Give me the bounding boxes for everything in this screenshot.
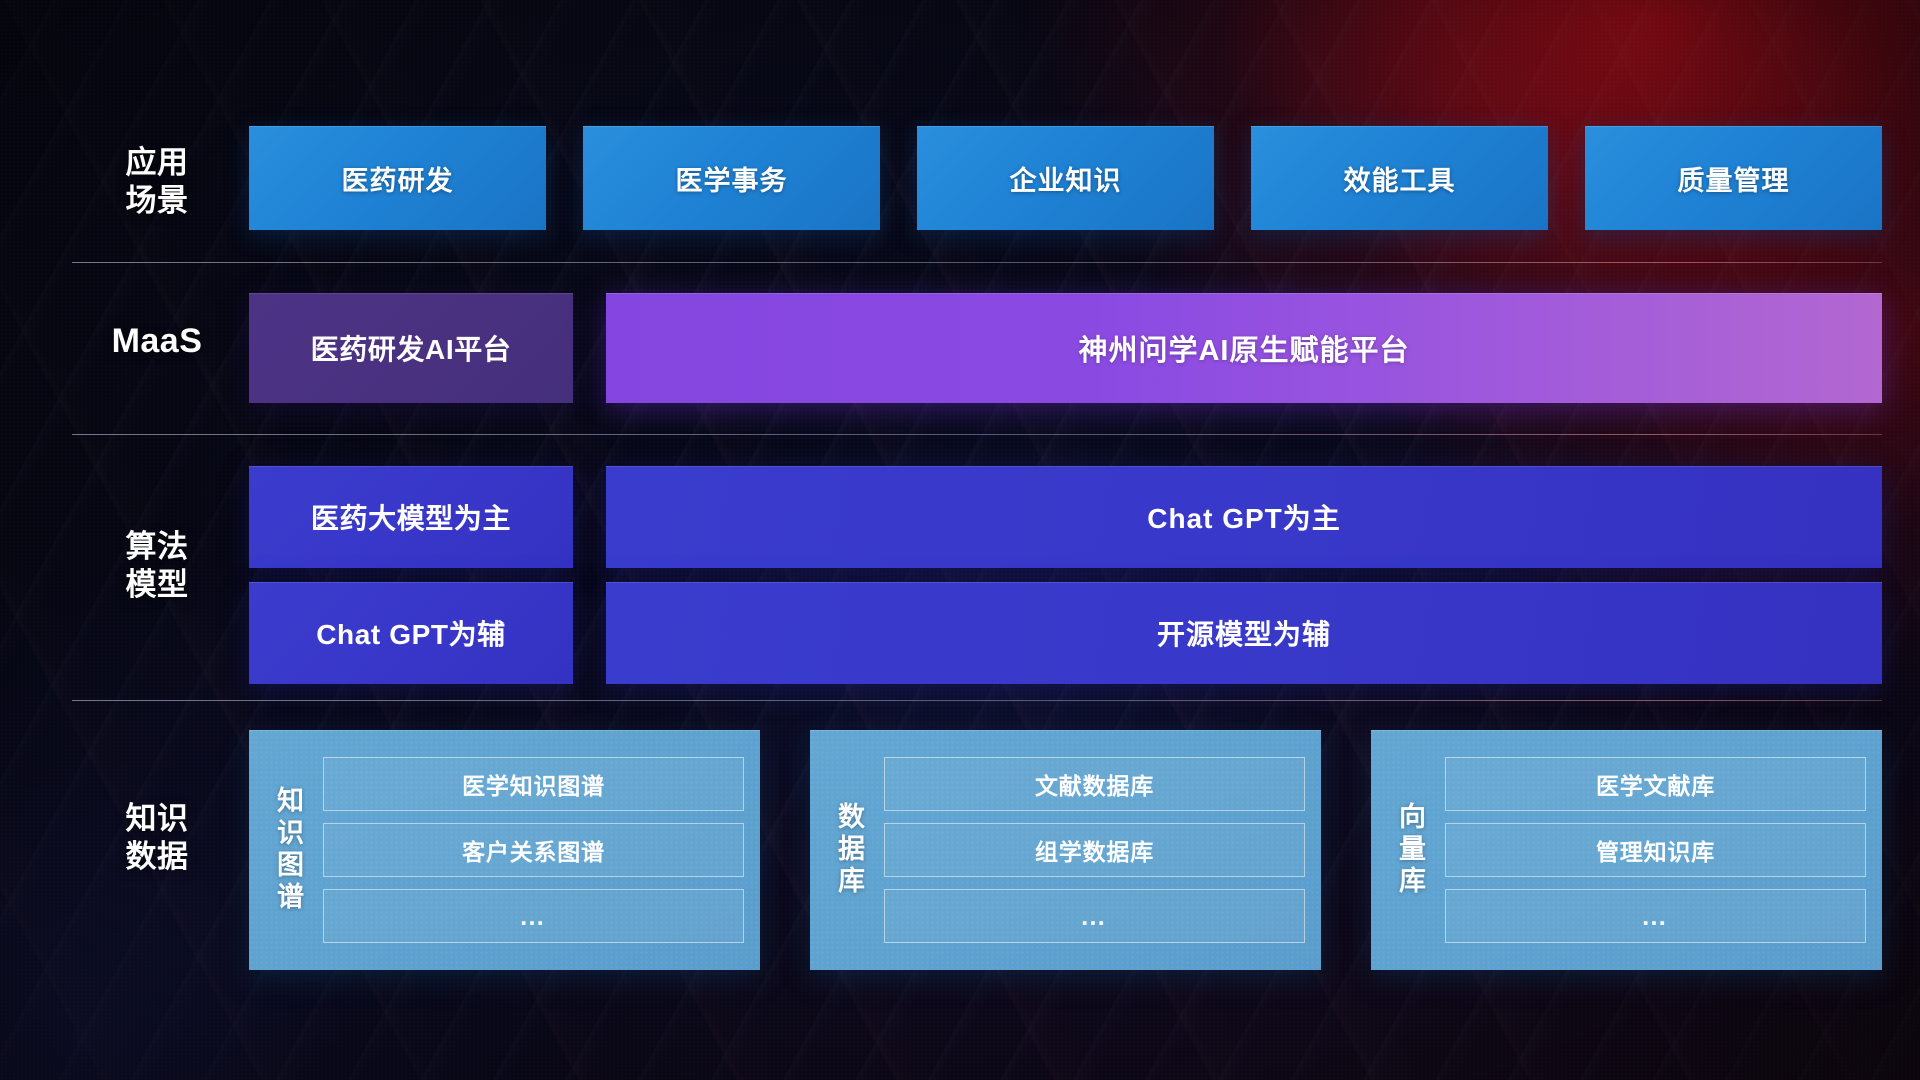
knowledge-item-list: 医学知识图谱 客户关系图谱 … xyxy=(323,744,744,956)
knowledge-item-list: 医学文献库 管理知识库 … xyxy=(1445,744,1866,956)
divider-maas-algo xyxy=(72,434,1882,435)
divider-algo-knowledge xyxy=(72,700,1882,701)
row-application-scenarios: 应用 场景 医药研发 医学事务 企业知识 效能工具 质量管理 xyxy=(0,126,1920,230)
vlabel-char: 知 xyxy=(277,786,305,818)
maas-card-drug-rd-ai-platform[interactable]: 医药研发AI平台 xyxy=(249,293,573,403)
knowledge-panel-label-knowledge-graph: 知 识 图 谱 xyxy=(259,744,323,956)
knowledge-item-medical-knowledge-graph[interactable]: 医学知识图谱 xyxy=(323,757,744,811)
knowledge-panel-label-vector-store: 向 量 库 xyxy=(1381,744,1445,956)
knowledge-item-omics-database[interactable]: 组学数据库 xyxy=(884,823,1305,877)
knowledge-panel-vector-store[interactable]: 向 量 库 医学文献库 管理知识库 … xyxy=(1371,730,1882,970)
maas-track: 医药研发AI平台 神州问学AI原生赋能平台 xyxy=(249,293,1882,403)
app-card-drug-rd[interactable]: 医药研发 xyxy=(249,126,546,230)
knowledge-item-management-knowledge-store[interactable]: 管理知识库 xyxy=(1445,823,1866,877)
algo-card-chatgpt-secondary[interactable]: Chat GPT为辅 xyxy=(249,582,573,684)
vlabel-char: 库 xyxy=(838,866,866,898)
divider-apps-maas xyxy=(72,262,1882,263)
knowledge-item-more[interactable]: … xyxy=(323,889,744,943)
vlabel-char: 识 xyxy=(277,818,305,850)
algorithm-line-primary: 医药大模型为主 Chat GPT为主 xyxy=(249,466,1882,568)
vlabel-char: 量 xyxy=(1399,834,1427,866)
vlabel-char: 谱 xyxy=(277,882,305,914)
vlabel-char: 向 xyxy=(1399,802,1427,834)
knowledge-panel-database[interactable]: 数 据 库 文献数据库 组学数据库 … xyxy=(810,730,1321,970)
row-label-algorithm-models: 算法 模型 xyxy=(72,528,242,604)
algorithm-line-secondary: Chat GPT为辅 开源模型为辅 xyxy=(249,582,1882,684)
app-card-efficiency-tools[interactable]: 效能工具 xyxy=(1251,126,1548,230)
row-maas: MaaS 医药研发AI平台 神州问学AI原生赋能平台 xyxy=(0,293,1920,403)
knowledge-item-customer-relation-graph[interactable]: 客户关系图谱 xyxy=(323,823,744,877)
vlabel-char: 据 xyxy=(838,834,866,866)
row-algorithm-models: 算法 模型 医药大模型为主 Chat GPT为主 Chat GPT为辅 开源模型… xyxy=(0,466,1920,688)
knowledge-item-more[interactable]: … xyxy=(884,889,1305,943)
knowledge-panel-label-database: 数 据 库 xyxy=(820,744,884,956)
vlabel-char: 库 xyxy=(1399,866,1427,898)
maas-card-shenzhou-wenxue-platform[interactable]: 神州问学AI原生赋能平台 xyxy=(606,293,1882,403)
row-label-knowledge-data: 知识 数据 xyxy=(72,800,242,876)
algo-card-opensource-model-secondary[interactable]: 开源模型为辅 xyxy=(606,582,1882,684)
row-label-application-scenarios: 应用 场景 xyxy=(72,144,242,220)
app-card-quality-management[interactable]: 质量管理 xyxy=(1585,126,1882,230)
knowledge-item-literature-database[interactable]: 文献数据库 xyxy=(884,757,1305,811)
row-knowledge-data: 知识 数据 知 识 图 谱 医学知识图谱 客户关系图谱 … xyxy=(0,730,1920,970)
vlabel-char: 数 xyxy=(838,802,866,834)
vlabel-char: 图 xyxy=(277,850,305,882)
app-card-enterprise-knowledge[interactable]: 企业知识 xyxy=(917,126,1214,230)
knowledge-item-list: 文献数据库 组学数据库 … xyxy=(884,744,1305,956)
knowledge-panel-track: 知 识 图 谱 医学知识图谱 客户关系图谱 … 数 据 库 xyxy=(249,730,1882,970)
algo-card-drug-large-model-primary[interactable]: 医药大模型为主 xyxy=(249,466,573,568)
application-card-track: 医药研发 医学事务 企业知识 效能工具 质量管理 xyxy=(249,126,1882,230)
algo-card-chatgpt-primary[interactable]: Chat GPT为主 xyxy=(606,466,1882,568)
row-label-maas: MaaS xyxy=(72,321,242,362)
app-card-medical-affairs[interactable]: 医学事务 xyxy=(583,126,880,230)
knowledge-panel-knowledge-graph[interactable]: 知 识 图 谱 医学知识图谱 客户关系图谱 … xyxy=(249,730,760,970)
knowledge-item-more[interactable]: … xyxy=(1445,889,1866,943)
knowledge-item-medical-literature-store[interactable]: 医学文献库 xyxy=(1445,757,1866,811)
diagram-canvas: 应用 场景 医药研发 医学事务 企业知识 效能工具 质量管理 MaaS 医药研发… xyxy=(0,0,1920,1080)
